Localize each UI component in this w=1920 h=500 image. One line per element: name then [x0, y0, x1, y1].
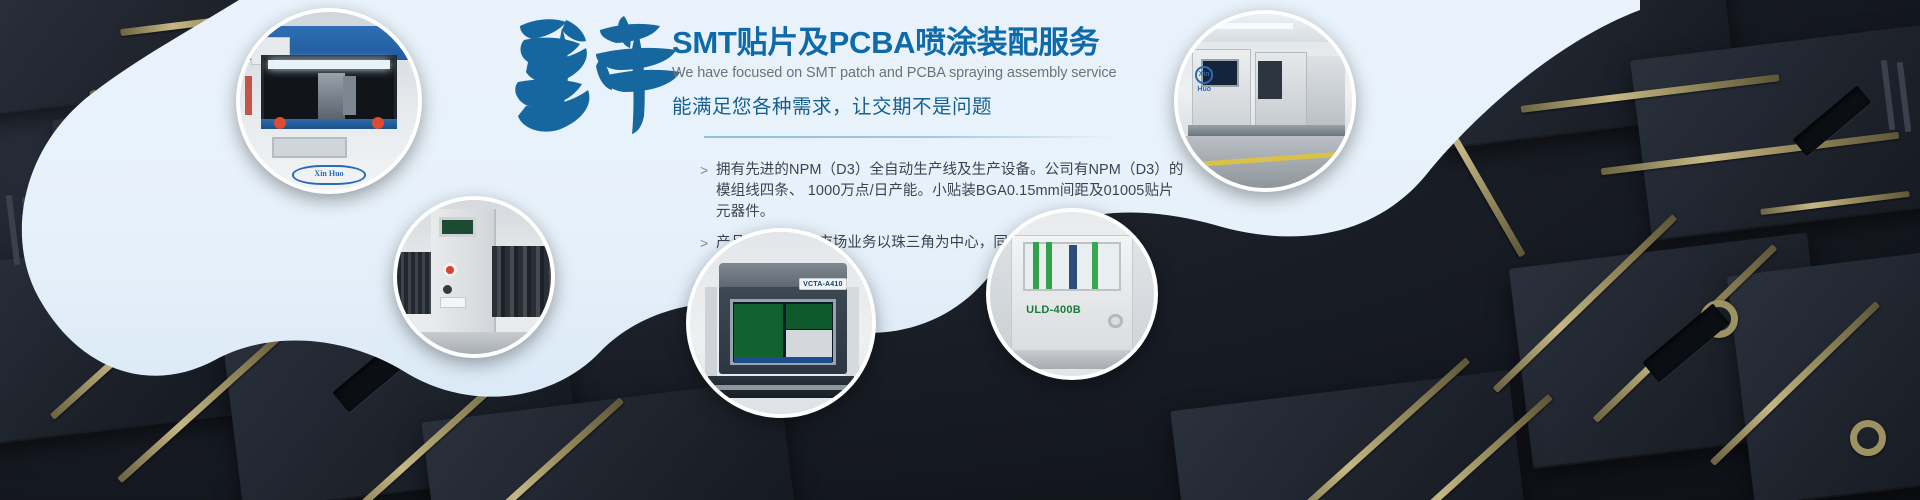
page-subtitle-en: We have focused on SMT patch and PCBA sp… — [672, 65, 1184, 81]
photo-circle-aoi-inspection: VCTA-A410 — [686, 228, 876, 418]
production-line-image: Xin Huo — [1178, 14, 1352, 188]
photo-circle-magazine-loader: ULD-400B — [986, 208, 1158, 380]
photo-circle-smt-printer: Xin Huo — [236, 8, 422, 194]
photo-circle-chip-mounter — [393, 196, 555, 358]
aoi-inspection-image: VCTA-A410 — [690, 232, 872, 414]
machine-model-label: VCTA-A410 — [799, 278, 846, 291]
bullet-marker-icon: > — [700, 160, 716, 180]
magazine-loader-image: ULD-400B — [990, 212, 1154, 376]
machine-model-label: ULD-400B — [1026, 304, 1092, 320]
smt-printer-image: Xin Huo — [240, 12, 418, 190]
promo-banner: SMT贴片及PCBA喷涂装配服务 We have focused on SMT … — [0, 0, 1920, 500]
headline-stack: SMT贴片及PCBA喷涂装配服务 We have focused on SMT … — [672, 26, 1184, 119]
chip-mounter-image — [397, 200, 551, 354]
brush-calligraphy-duonian — [504, 10, 682, 134]
page-subtitle-cn: 能满足您各种需求，让交期不是问题 — [672, 90, 1184, 119]
photo-circle-production-line: Xin Huo — [1174, 10, 1356, 192]
brand-badge: Xin Huo — [1195, 66, 1212, 83]
divider — [704, 136, 1116, 138]
page-title: SMT贴片及PCBA喷涂装配服务 — [672, 26, 1184, 60]
brand-badge: Xin Huo — [292, 165, 367, 185]
